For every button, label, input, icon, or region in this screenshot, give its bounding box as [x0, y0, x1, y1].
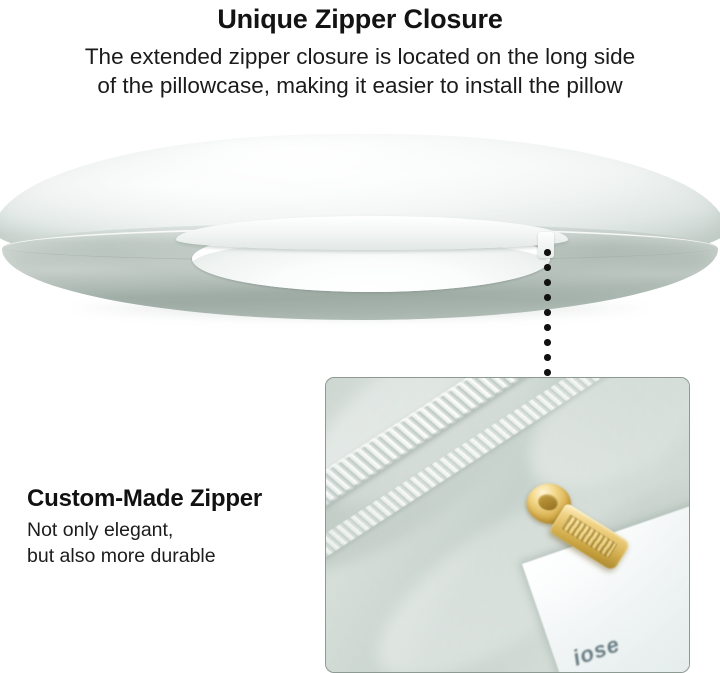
- embossed-brand-mark: [561, 514, 617, 558]
- leader-dot: [544, 339, 551, 346]
- leader-dot: [544, 324, 551, 331]
- infographic-canvas: Unique Zipper Closure The extended zippe…: [0, 0, 720, 673]
- subtitle-line-2: of the pillowcase, making it easier to i…: [0, 71, 720, 100]
- caption-body-line-2: but also more durable: [27, 543, 317, 569]
- subtitle-line-1: The extended zipper closure is located o…: [85, 44, 635, 69]
- caption-title: Custom-Made Zipper: [27, 484, 317, 513]
- leader-dot: [544, 294, 551, 301]
- pillow-illustration: [0, 128, 720, 343]
- leader-dot: [544, 264, 551, 271]
- leader-dot: [544, 354, 551, 361]
- caption-block: Custom-Made Zipper Not only elegant, but…: [27, 484, 317, 569]
- zipper-pull-tab: [549, 503, 631, 572]
- leader-dot: [544, 279, 551, 286]
- caption-body-line-1: Not only elegant,: [27, 519, 173, 541]
- zipper-closeup-inset: iose: [325, 377, 690, 673]
- leader-dot: [544, 369, 551, 376]
- bamboo-leaf-icon: [674, 501, 690, 673]
- page-subtitle: The extended zipper closure is located o…: [0, 42, 720, 100]
- inset-fabric-background: iose: [326, 378, 689, 672]
- page-title: Unique Zipper Closure: [0, 2, 720, 36]
- caption-body: Not only elegant, but also more durable: [27, 517, 317, 569]
- card-text: iose: [570, 631, 624, 671]
- leader-dot: [544, 249, 551, 256]
- dotted-leader-line: [544, 249, 551, 379]
- leader-dot: [544, 309, 551, 316]
